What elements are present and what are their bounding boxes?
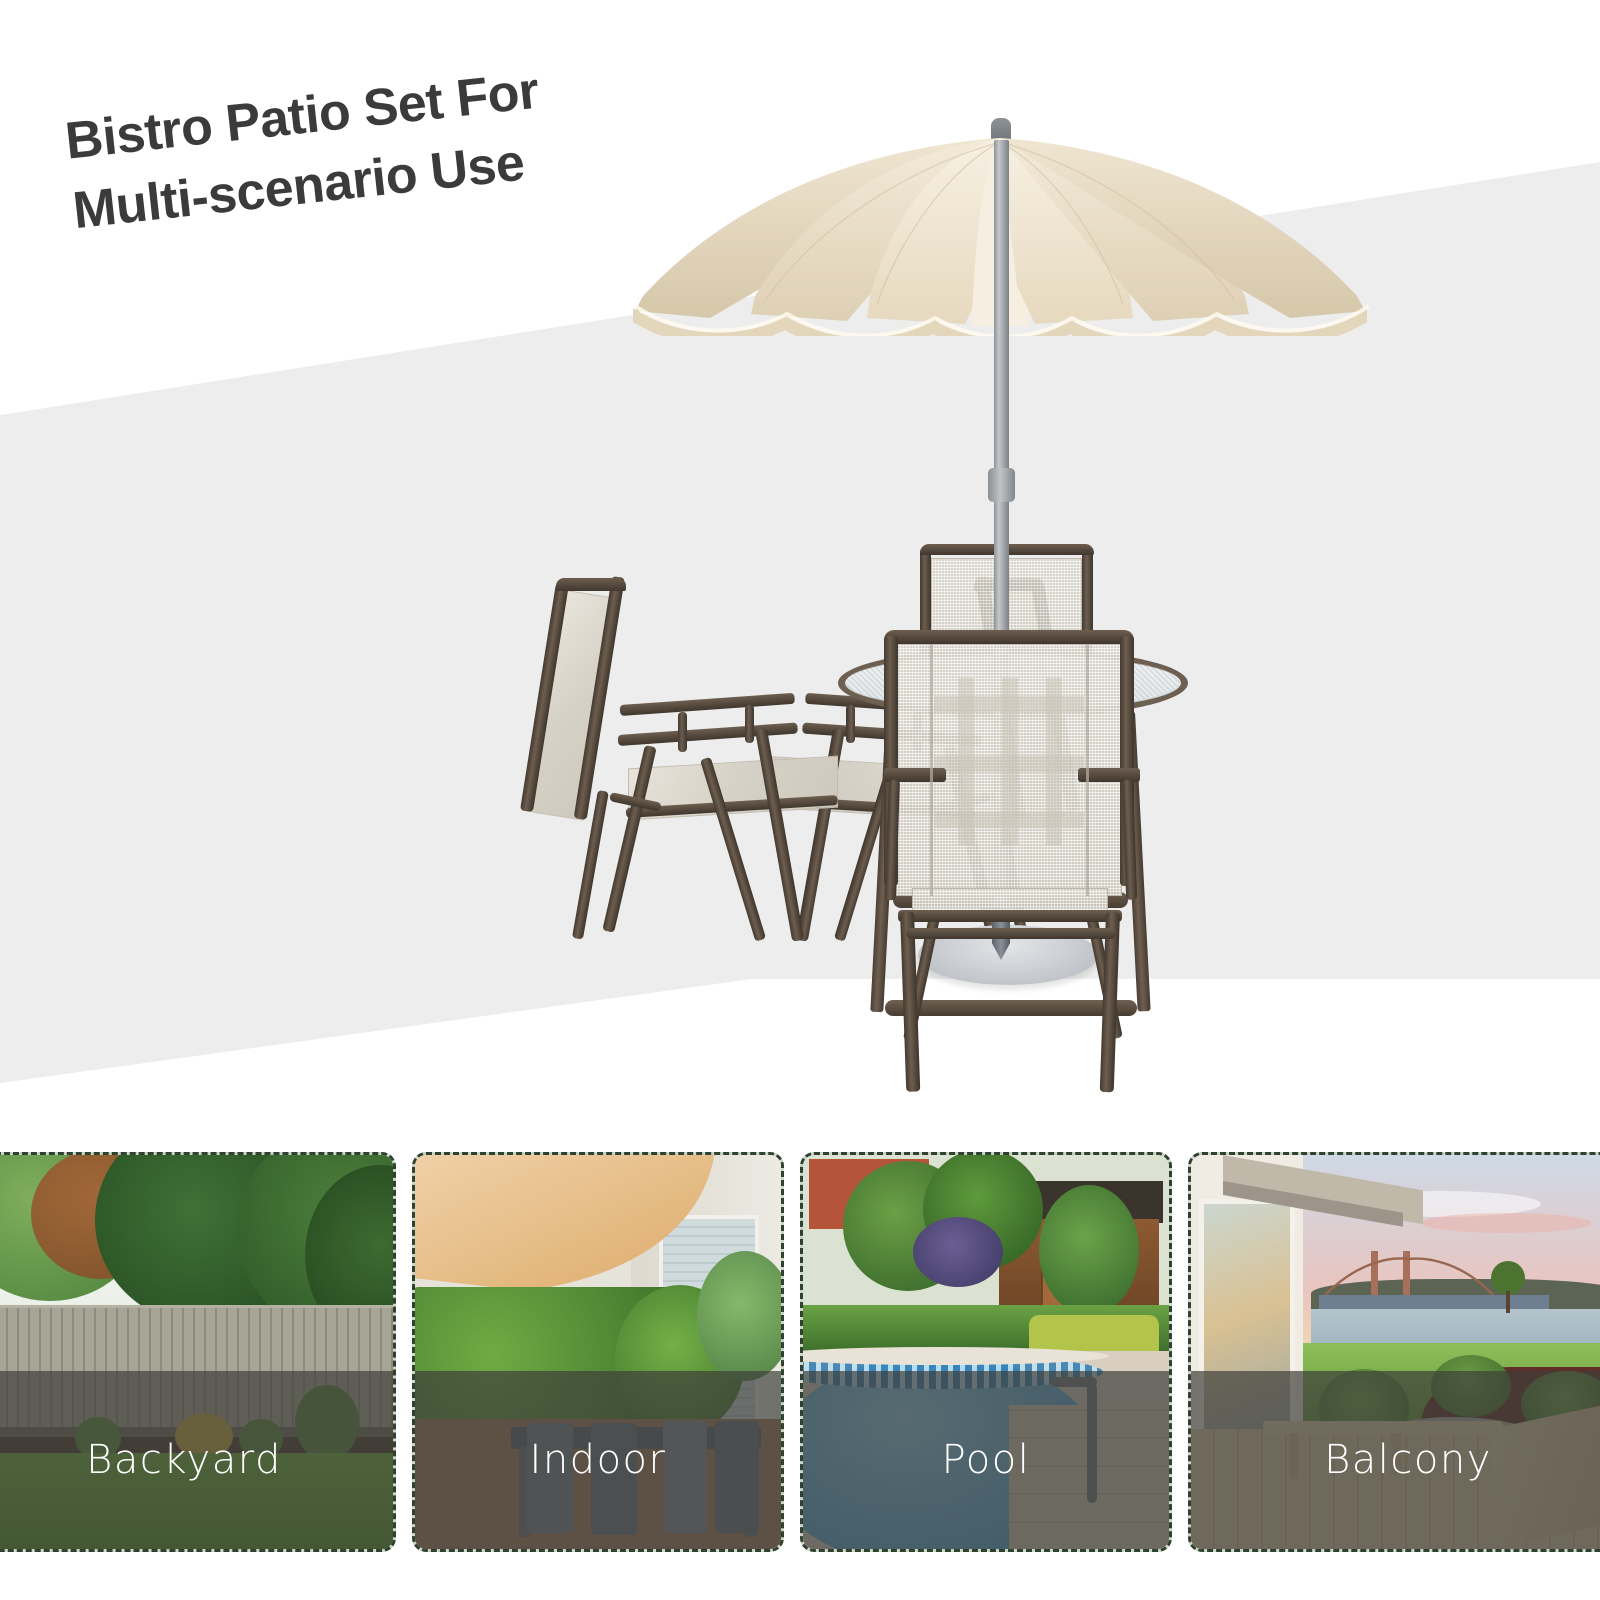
scenario-thumbnail-strip: Backyard: [0, 1152, 1600, 1572]
caption-bar: Balcony: [1191, 1371, 1600, 1549]
scenario-label-balcony: Balcony: [1324, 1437, 1492, 1483]
scenario-label-indoor: Indoor: [530, 1437, 667, 1483]
caption-bar: Pool: [803, 1371, 1169, 1549]
scenario-label-pool: Pool: [942, 1437, 1031, 1483]
product-marketing-image: Bistro Patio Set For Multi-scenario Use: [0, 0, 1600, 1600]
scenario-card-backyard[interactable]: Backyard: [0, 1152, 396, 1552]
scenario-card-pool[interactable]: Pool: [800, 1152, 1172, 1552]
caption-bar: Backyard: [0, 1371, 393, 1549]
scenario-card-indoor[interactable]: Indoor: [412, 1152, 784, 1552]
umbrella-tilt-joint: [988, 468, 1015, 502]
scenario-label-backyard: Backyard: [86, 1437, 282, 1483]
scenario-card-balcony[interactable]: Balcony: [1188, 1152, 1600, 1552]
caption-bar: Indoor: [415, 1371, 781, 1549]
